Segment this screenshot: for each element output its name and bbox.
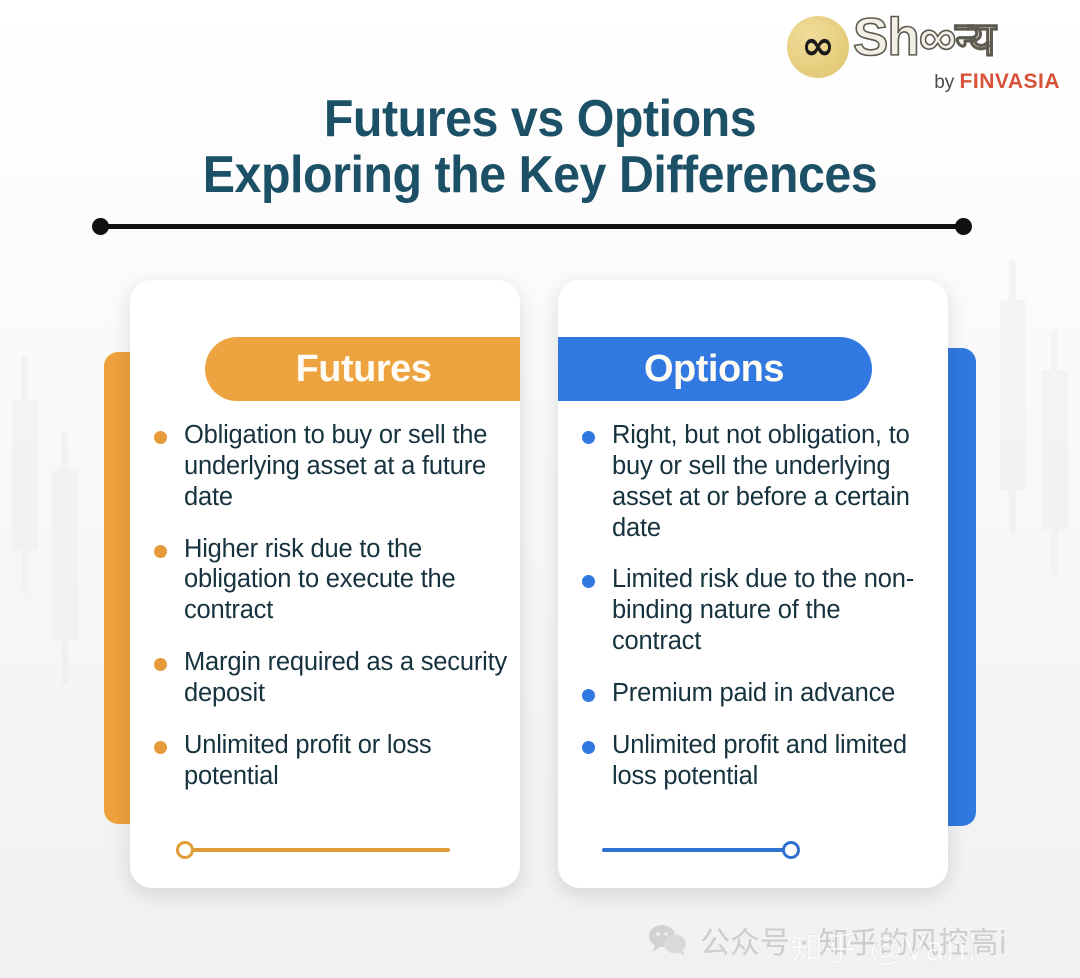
options-heading-banner: Options: [558, 337, 872, 401]
bullet-text: Obligation to buy or sell the underlying…: [184, 420, 508, 513]
title-divider-rule: [92, 218, 972, 236]
list-item: Unlimited profit and limited loss potent…: [582, 730, 936, 792]
infographic-canvas: ∞ Sh∞न्य by FINVASIA Futures vs Options …: [0, 0, 1080, 978]
page-title: Futures vs Options Exploring the Key Dif…: [38, 92, 1042, 203]
bullet-dot-icon: [582, 689, 595, 702]
bullet-text: Higher risk due to the obligation to exe…: [184, 534, 508, 627]
list-item: Premium paid in advance: [582, 678, 936, 709]
bullet-text: Unlimited profit and limited loss potent…: [612, 730, 936, 792]
bullet-dot-icon: [582, 431, 595, 444]
list-item: Obligation to buy or sell the underlying…: [154, 420, 508, 513]
logo-wordmark: Sh∞न्य: [853, 10, 995, 66]
options-slider-track[interactable]: [602, 848, 792, 852]
logo-infinity-glyph: ∞: [787, 26, 849, 66]
bullet-dot-icon: [582, 741, 595, 754]
options-slider-knob[interactable]: [782, 841, 800, 859]
logo-brand-name: FINVASIA: [960, 70, 1060, 93]
futures-slider-track[interactable]: [192, 848, 450, 852]
options-bullet-list: Right, but not obligation, to buy or sel…: [582, 420, 936, 812]
title-line-2: Exploring the Key Differences: [38, 148, 1042, 204]
bullet-text: Margin required as a security deposit: [184, 647, 508, 709]
options-card: Options Right, but not obligation, to bu…: [558, 280, 948, 888]
futures-slider-knob[interactable]: [176, 841, 194, 859]
bullet-dot-icon: [154, 431, 167, 444]
bullet-dot-icon: [154, 741, 167, 754]
title-line-1: Futures vs Options: [38, 92, 1042, 148]
list-item: Margin required as a security deposit: [154, 647, 508, 709]
bullet-dot-icon: [582, 575, 595, 588]
futures-heading-banner: Futures: [205, 337, 520, 401]
zhihu-watermark-overlay: 知乎 @Vani: [790, 922, 978, 970]
list-item: Unlimited profit or loss potential: [154, 730, 508, 792]
list-item: Limited risk due to the non-binding natu…: [582, 564, 936, 657]
options-slider[interactable]: [602, 838, 922, 862]
logo-byline: by FINVASIA: [934, 70, 1060, 94]
logo-by-prefix: by: [934, 72, 959, 93]
futures-heading-label: Futures: [296, 348, 432, 391]
futures-slider[interactable]: [176, 838, 496, 862]
list-item: Right, but not obligation, to buy or sel…: [582, 420, 936, 543]
futures-card: Futures Obligation to buy or sell the un…: [130, 280, 520, 888]
logo-word-infinity: ∞: [919, 8, 956, 67]
infinity-badge-icon: ∞: [787, 16, 849, 78]
rule-bar: [98, 224, 966, 229]
wechat-icon: [648, 924, 688, 956]
brand-logo: ∞ Sh∞न्य by FINVASIA: [787, 8, 1062, 98]
wechat-watermark: 公众号 · 知乎的风控高i: [648, 918, 1007, 962]
bullet-text: Right, but not obligation, to buy or sel…: [612, 420, 936, 543]
bullet-text: Premium paid in advance: [612, 678, 895, 709]
watermark-text: 公众号 · 知乎的风控高i: [700, 918, 1007, 962]
rule-dot-right: [955, 218, 972, 235]
futures-bullet-list: Obligation to buy or sell the underlying…: [154, 420, 508, 812]
bullet-dot-icon: [154, 658, 167, 671]
bullet-text: Limited risk due to the non-binding natu…: [612, 564, 936, 657]
logo-word-latin: Sh: [853, 8, 919, 67]
bullet-text: Unlimited profit or loss potential: [184, 730, 508, 792]
options-heading-label: Options: [644, 348, 784, 391]
logo-word-hindi: न्य: [956, 12, 995, 67]
list-item: Higher risk due to the obligation to exe…: [154, 534, 508, 627]
bullet-dot-icon: [154, 545, 167, 558]
